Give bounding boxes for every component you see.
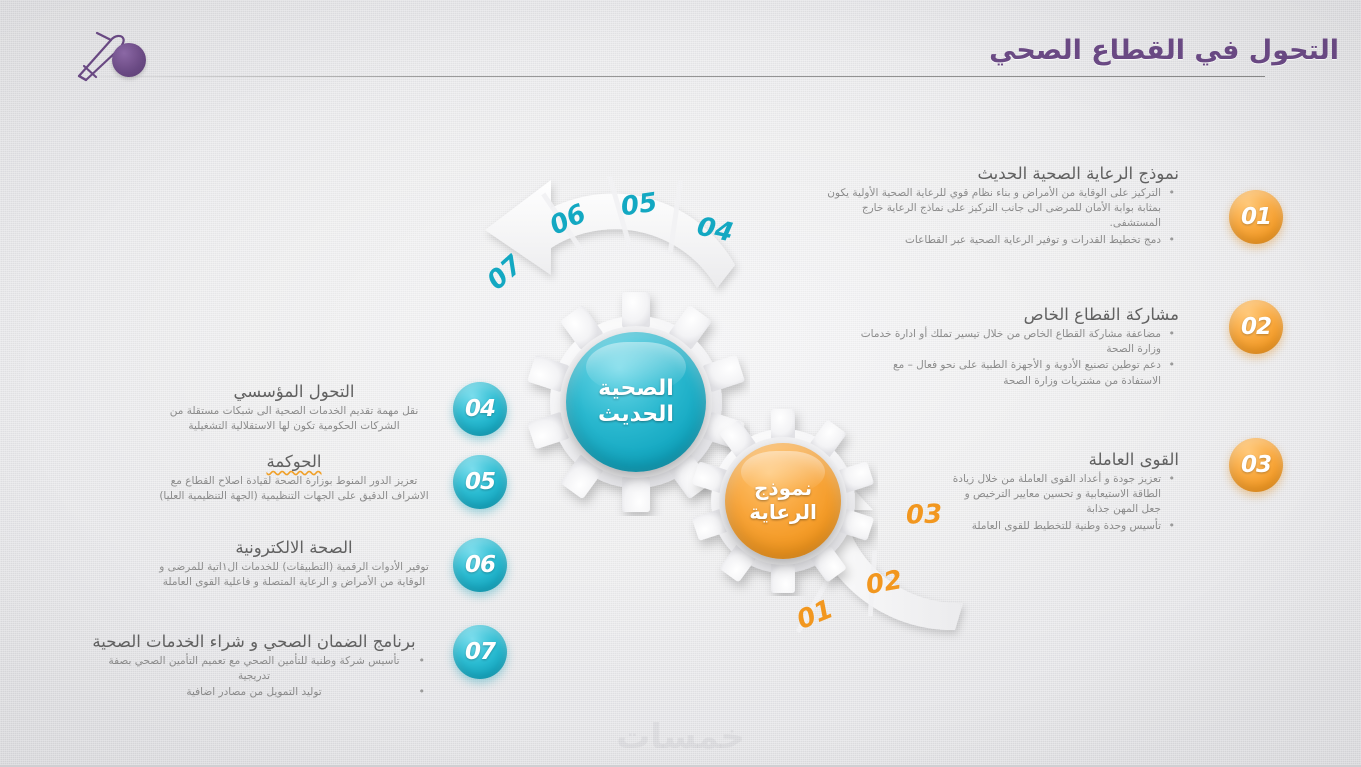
section-07: برنامج الضمان الصحي و شراء الخدمات الصحي… [75,632,433,702]
section-05-body: تعزيز الدور المنوط بوزارة الصحة لقيادة ا… [155,474,433,504]
arrow-number-05: 05 [619,188,659,223]
section-05: الحوكمة تعزيز الدور المنوط بوزارة الصحة … [155,452,433,504]
section-01-title: نموذج الرعاية الصحية الحديث [819,164,1179,183]
badge-01[interactable]: 01 [1229,190,1283,244]
header-divider-rule [75,76,1265,77]
section-02-title: مشاركة القطاع الخاص [851,305,1179,324]
arrow-number-03: 03 [905,499,942,530]
section-03-title: القوى العاملة [951,450,1179,469]
list-item: مضاعفة مشاركة القطاع الخاص من خلال تيسير… [851,327,1161,357]
section-03-bullets: تعزيز جودة و أعداد القوى العاملة من خلال… [951,472,1179,534]
gear-orange-label-line2: الرعاية [749,501,817,525]
section-01-bullets: التركيز على الوقاية من الأمراض و بناء نظ… [819,186,1179,248]
section-03: القوى العاملة تعزيز جودة و أعداد القوى ا… [951,450,1179,535]
section-05-title: الحوكمة [155,452,433,471]
section-04: التحول المؤسسي نقل مهمة تقديم الخدمات ال… [155,382,433,434]
watermark: خمسات [0,717,1361,757]
list-item: دعم توطين تصنيع الأدوية و الأجهزة الطبية… [851,358,1161,388]
section-07-bullets: تأسيس شركة وطنية للتأمين الصحي مع تعميم … [75,654,433,701]
section-02-bullets: مضاعفة مشاركة القطاع الخاص من خلال تيسير… [851,327,1179,389]
section-04-title: التحول المؤسسي [155,382,433,401]
list-item: دمج تخطيط القدرات و توفير الرعاية الصحية… [819,233,1161,248]
gear-teal-label-line1: الصحية [598,376,674,402]
section-06-body: توفير الأدوات الرقمية (التطبيقات) للخدما… [155,560,433,590]
badge-05[interactable]: 05 [453,455,507,509]
badge-06[interactable]: 06 [453,538,507,592]
list-item: التركيز على الوقاية من الأمراض و بناء نظ… [819,186,1161,232]
badge-02[interactable]: 02 [1229,300,1283,354]
gear-teal-label-line2: الحديث [598,402,674,428]
list-item: تعزيز جودة و أعداد القوى العاملة من خلال… [951,472,1161,518]
slide-canvas: التحول في القطاع الصحي 07 06 05 04 [0,0,1361,767]
section-02: مشاركة القطاع الخاص مضاعفة مشاركة القطاع… [851,305,1179,390]
gear-teal-hub: الصحية الحديث [566,332,706,472]
section-06: الصحة الالكترونية توفير الأدوات الرقمية … [155,538,433,590]
list-item: توليد التمويل من مصادر اضافية [97,685,411,700]
section-06-title: الصحة الالكترونية [155,538,433,557]
badge-07[interactable]: 07 [453,625,507,679]
section-01: نموذج الرعاية الصحية الحديث التركيز على … [819,164,1179,249]
list-item: تأسيس وحدة وطنية للتخطيط للقوى العاملة [951,519,1161,534]
badge-03[interactable]: 03 [1229,438,1283,492]
page-title: التحول في القطاع الصحي [989,35,1339,66]
section-07-title: برنامج الضمان الصحي و شراء الخدمات الصحي… [75,632,433,651]
badge-04[interactable]: 04 [453,382,507,436]
section-04-body: نقل مهمة تقديم الخدمات الصحية الى شبكات … [155,404,433,434]
gear-orange-hub: نموذج الرعاية [725,443,841,559]
purple-dot-icon [112,43,146,77]
gear-orange-label-line1: نموذج [754,477,812,501]
list-item: تأسيس شركة وطنية للتأمين الصحي مع تعميم … [97,654,411,684]
